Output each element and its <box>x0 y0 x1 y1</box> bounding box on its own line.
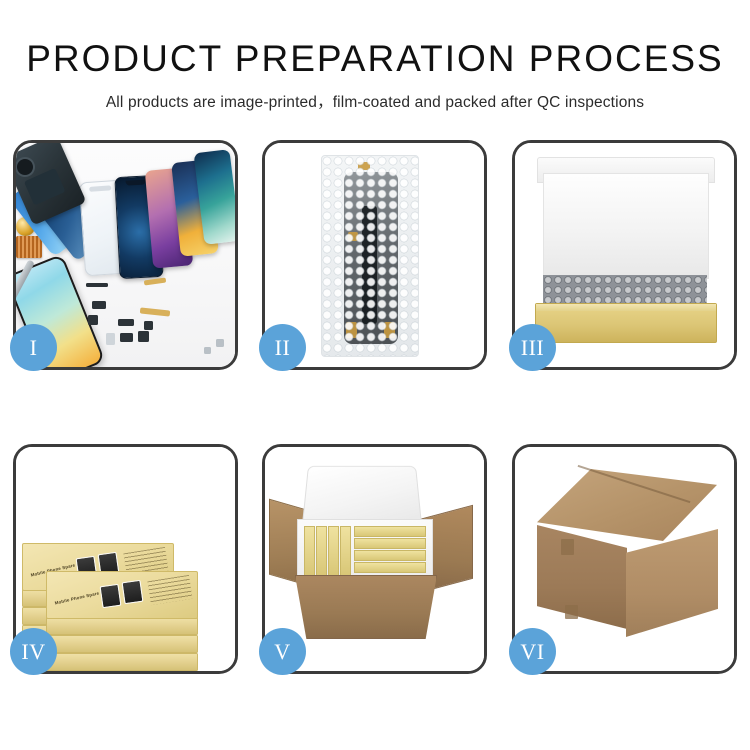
logic-chip-icon <box>16 236 42 258</box>
small-part-icon <box>138 331 149 342</box>
flex-cable-icon <box>140 307 170 316</box>
header: PRODUCT PREPARATION PROCESS All products… <box>0 0 750 112</box>
small-part-icon <box>88 315 98 325</box>
kraft-box-base-icon <box>535 303 717 343</box>
box-lid-front: Mobile Phone Spare Parts <box>46 571 198 619</box>
process-step-panel-3: III <box>512 140 737 370</box>
small-part-icon <box>86 283 108 287</box>
bubble-wrap-bag-icon <box>321 155 419 357</box>
process-step-panel-6: VI <box>512 444 737 674</box>
small-part-icon <box>120 333 133 342</box>
step-badge-5: V <box>259 628 306 675</box>
process-step-panel-2: II <box>262 140 487 370</box>
carton-right-face <box>626 529 718 637</box>
step-badge-1: I <box>10 324 57 371</box>
step-badge-3: III <box>509 324 556 371</box>
screen-photo-icon <box>100 584 122 608</box>
step-badge-2: II <box>259 324 306 371</box>
carton-tape-icon <box>565 605 578 619</box>
carton-body-icon <box>295 575 437 639</box>
process-step-panel-1: I <box>13 140 238 370</box>
page-subtitle: All products are image-printed，film-coat… <box>0 79 750 112</box>
page-title: PRODUCT PREPARATION PROCESS <box>0 0 750 79</box>
small-part-icon <box>144 321 153 330</box>
small-part-icon <box>118 319 134 326</box>
process-step-panel-4: Mobile Phone Spare Parts Mobile Phone Sp… <box>13 444 238 674</box>
process-step-grid: I II <box>13 140 737 674</box>
small-screw-icon <box>204 347 211 354</box>
foam-liner-icon <box>297 519 433 583</box>
step-badge-6: VI <box>509 628 556 675</box>
box-spec-lines <box>147 575 192 605</box>
foam-sheet-icon <box>543 173 709 279</box>
small-part-icon <box>106 333 115 345</box>
process-step-panel-5: V <box>262 444 487 674</box>
carton-left-face <box>537 525 627 629</box>
small-part-icon <box>92 301 106 309</box>
flex-cable-icon <box>144 277 166 285</box>
screen-photo-icon <box>122 580 144 604</box>
carton-tape-icon <box>561 539 574 555</box>
product-preparation-infographic: PRODUCT PREPARATION PROCESS All products… <box>0 0 750 750</box>
bubble-texture <box>322 156 418 356</box>
small-screw-icon <box>216 339 224 347</box>
step-badge-4: IV <box>10 628 57 675</box>
